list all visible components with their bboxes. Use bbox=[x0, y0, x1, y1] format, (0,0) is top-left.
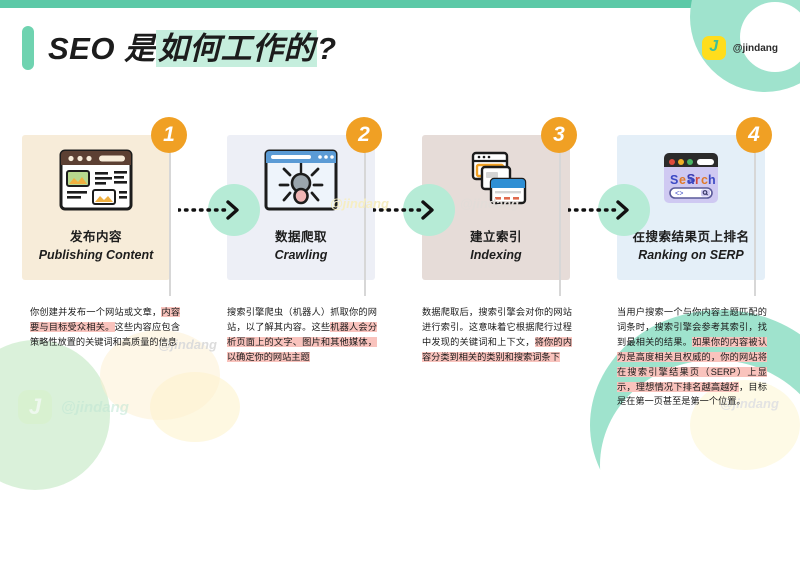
svg-text:a: a bbox=[687, 173, 695, 187]
watermark-logo-icon: J bbox=[18, 390, 52, 424]
svg-text:h: h bbox=[708, 173, 716, 187]
title-text-highlight: 如何工作的 bbox=[156, 30, 318, 67]
svg-text:S: S bbox=[670, 173, 678, 187]
spider-crawler-icon bbox=[264, 149, 338, 216]
step-badge-4: 4 bbox=[736, 117, 772, 153]
title-text-tail: ? bbox=[317, 31, 336, 66]
badge-stem-3 bbox=[559, 151, 561, 296]
watermark-handle: @jindang bbox=[61, 399, 129, 416]
title-text-plain: SEO 是 bbox=[48, 31, 156, 66]
step-card-1[interactable]: 发布内容 Publishing Content bbox=[22, 135, 170, 280]
step-2-en-label: Crawling bbox=[275, 248, 328, 262]
step-4-description: 当用户搜索一个与你内容主题匹配的词条时，搜索引擎会参考其索引，找到最相关的结果。… bbox=[617, 305, 767, 409]
step-badge-3: 3 bbox=[541, 117, 577, 153]
watermark-card3: @jindang bbox=[460, 196, 519, 211]
step-3-number: 3 bbox=[553, 123, 565, 147]
svg-text:r: r bbox=[695, 173, 700, 187]
badge-stem-1 bbox=[169, 151, 171, 296]
badge-stem-2 bbox=[364, 151, 366, 296]
brand-handle: @jindang bbox=[733, 43, 778, 54]
page-header: SEO 是如何工作的? bbox=[22, 26, 337, 70]
brand-badge[interactable]: J @jindang bbox=[702, 36, 778, 60]
arrow-1-to-2 bbox=[178, 195, 248, 225]
svg-text:e: e bbox=[679, 173, 686, 187]
badge-stem-4 bbox=[754, 151, 756, 296]
jindang-logo-glyph: J bbox=[709, 39, 718, 55]
step-3-cn-label: 建立索引 bbox=[470, 226, 522, 245]
step-4-number: 4 bbox=[748, 123, 760, 147]
step-2-cn-label: 数据爬取 bbox=[275, 226, 327, 245]
step-1-description: 你创建并发布一个网站或文章，内容要与目标受众相关。这些内容应包含策略性放置的关键… bbox=[30, 305, 180, 350]
top-accent-strip bbox=[0, 0, 800, 8]
svg-text:c: c bbox=[701, 173, 708, 187]
jindang-logo-icon: J bbox=[702, 36, 726, 60]
step-3-description: 数据爬取后，搜索引擎会对你的网站进行索引。这意味着它根据爬行过程中发现的关键词和… bbox=[422, 305, 572, 365]
step-2-description: 搜索引擎爬虫（机器人）抓取你的网站，以了解其内容。这些机器人会分析页面上的文字、… bbox=[227, 305, 377, 365]
step-4-en-label: Ranking on SERP bbox=[638, 248, 744, 262]
page-title: SEO 是如何工作的? bbox=[48, 33, 337, 64]
step-1-en-label: Publishing Content bbox=[39, 248, 154, 262]
step-1-number: 1 bbox=[163, 123, 175, 147]
steps-row: 发布内容 Publishing Content 1 bbox=[0, 135, 800, 280]
svg-text:<>: <> bbox=[675, 191, 683, 199]
watermark-logo-glyph: J bbox=[29, 396, 41, 418]
step-badge-1: 1 bbox=[151, 117, 187, 153]
title-accent-bar bbox=[22, 26, 34, 70]
step-2-number: 2 bbox=[358, 123, 370, 147]
step-1-desc-part-1: 你创建并发布一个网站或文章， bbox=[30, 307, 161, 317]
watermark-bottom-left: J @jindang bbox=[18, 390, 129, 424]
step-3-en-label: Indexing bbox=[470, 248, 521, 262]
browser-article-icon bbox=[59, 149, 133, 216]
arrow-3-to-4 bbox=[568, 195, 638, 225]
step-1-cn-label: 发布内容 bbox=[70, 226, 122, 245]
step-badge-2: 2 bbox=[346, 117, 382, 153]
search-serp-icon: S Se ar ch <> bbox=[654, 149, 728, 216]
step-4-cn-label: 在搜索结果页上排名 bbox=[632, 226, 749, 245]
arrow-2-to-3 bbox=[373, 195, 443, 225]
